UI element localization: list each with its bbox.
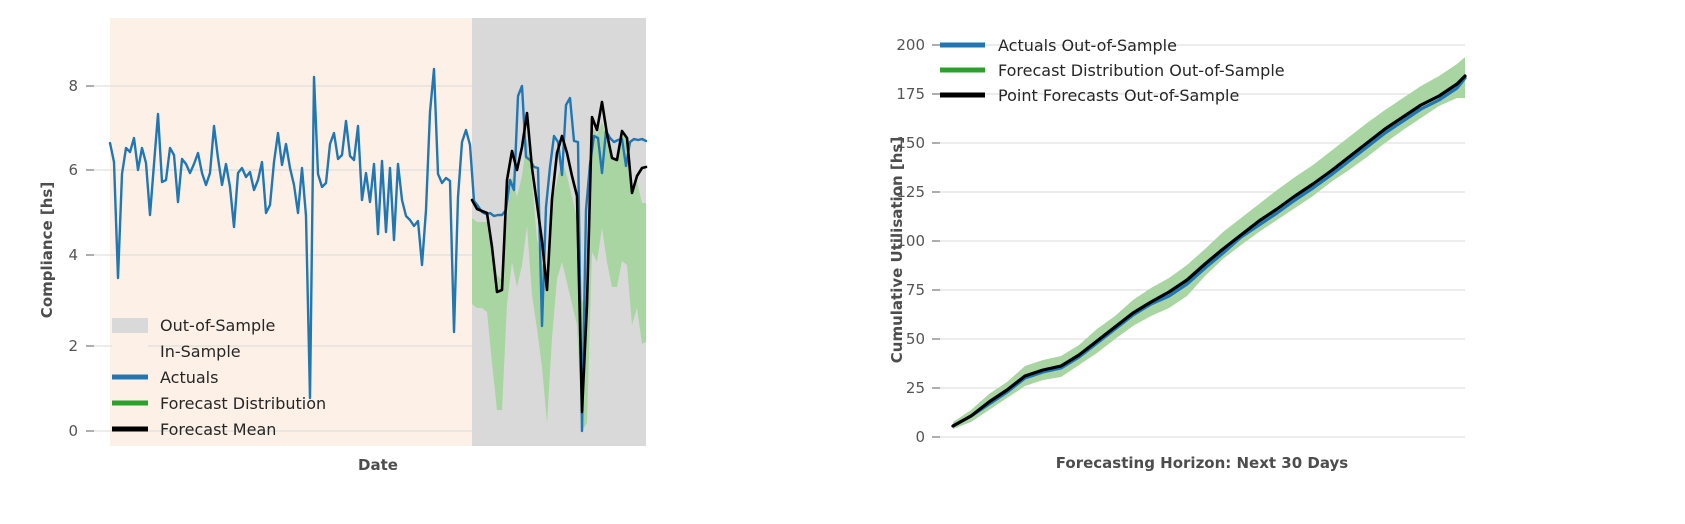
left-ytick-8: 8 <box>68 77 78 95</box>
right-ytick-0: 0 <box>915 428 925 446</box>
right-ytick-125: 125 <box>896 183 925 201</box>
left-y-axis-label: Compliance [hs] <box>38 182 56 318</box>
legend-label-forecast-distribution: Forecast Distribution <box>160 394 326 413</box>
cumulative-utilisation-svg: Cumulative Utilisation [hs] 0 25 <box>840 0 1685 524</box>
left-ytick-6: 6 <box>68 161 78 179</box>
compliance-forecast-svg: Compliance [hs] 0 2 4 6 <box>0 0 800 524</box>
right-ytick-100: 100 <box>896 232 925 250</box>
legend-label-point-forecasts-oos: Point Forecasts Out-of-Sample <box>998 86 1239 105</box>
legend-label-out-of-sample: Out-of-Sample <box>160 316 275 335</box>
compliance-forecast-panel: Compliance [hs] 0 2 4 6 <box>0 0 800 524</box>
right-y-axis-label: Cumulative Utilisation [hs] <box>888 137 906 363</box>
legend-label-forecast-distribution-oos: Forecast Distribution Out-of-Sample <box>998 61 1285 80</box>
right-ytick-75: 75 <box>906 281 925 299</box>
left-ytick-2: 2 <box>68 337 78 355</box>
right-x-axis-label: Forecasting Horizon: Next 30 Days <box>1056 454 1349 472</box>
right-y-ticks: 0 25 50 75 100 125 150 175 200 <box>896 36 940 446</box>
cumulative-utilisation-panel: Cumulative Utilisation [hs] 0 25 <box>840 0 1685 524</box>
left-ytick-0: 0 <box>68 422 78 440</box>
legend-label-in-sample: In-Sample <box>160 342 241 361</box>
legend-label-actuals-oos: Actuals Out-of-Sample <box>998 36 1177 55</box>
legend-label-forecast-mean: Forecast Mean <box>160 420 276 439</box>
right-ytick-175: 175 <box>896 85 925 103</box>
left-x-axis-label: Date <box>358 456 398 474</box>
right-ytick-150: 150 <box>896 134 925 152</box>
forecast-figure: Compliance [hs] 0 2 4 6 <box>0 0 1685 524</box>
right-ytick-200: 200 <box>896 36 925 54</box>
left-ytick-4: 4 <box>68 246 78 264</box>
legend-label-actuals: Actuals <box>160 368 218 387</box>
left-y-ticks: 0 2 4 6 8 <box>68 77 94 440</box>
legend-swatch-out-of-sample <box>112 318 148 333</box>
legend-swatch-in-sample <box>112 344 148 359</box>
right-ytick-25: 25 <box>906 379 925 397</box>
right-ytick-50: 50 <box>906 330 925 348</box>
right-legend: Actuals Out-of-Sample Forecast Distribut… <box>940 36 1285 105</box>
